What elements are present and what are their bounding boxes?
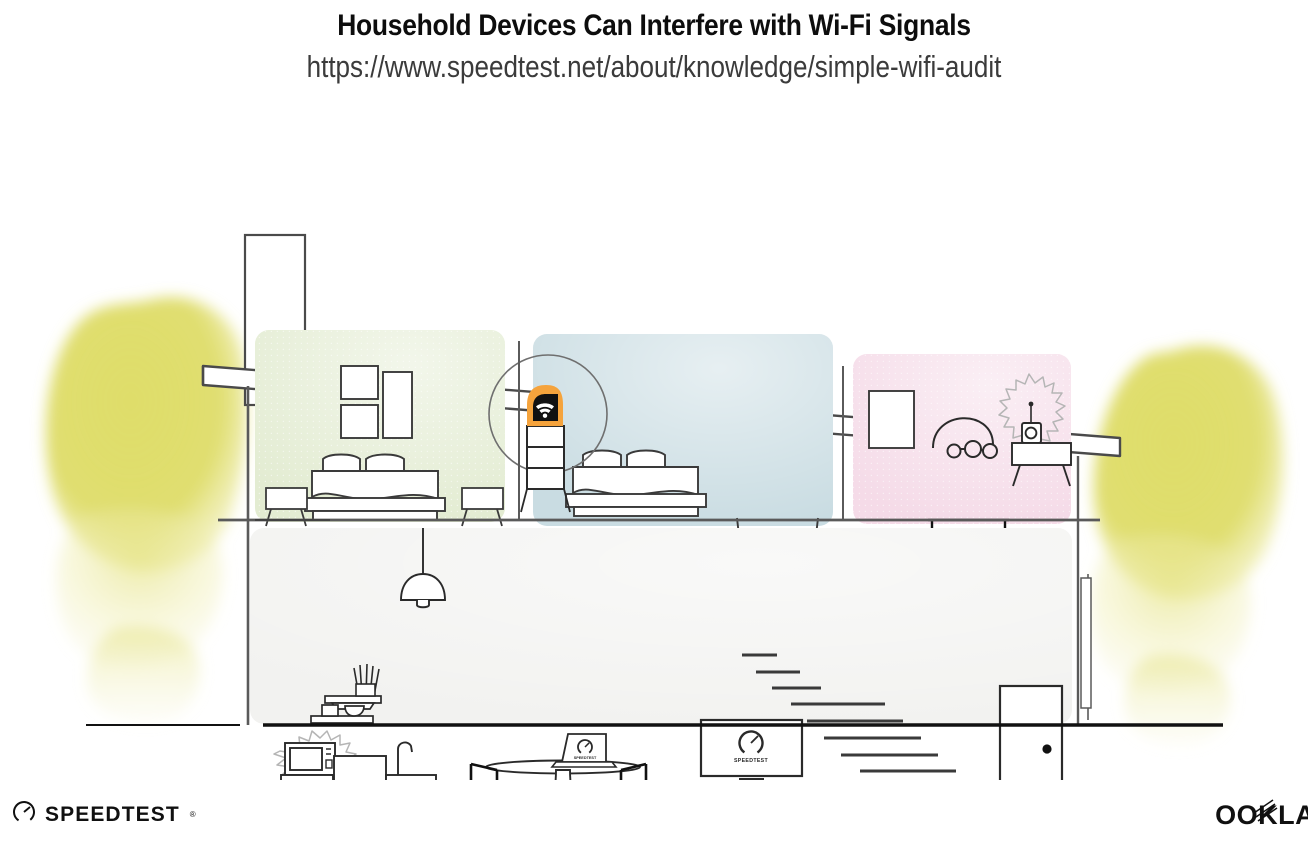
page-root: Household Devices Can Interfere with Wi-… bbox=[0, 0, 1308, 861]
speedtest-logo: SPEEDTEST ® bbox=[12, 800, 196, 829]
front-door[interactable] bbox=[1000, 686, 1062, 780]
footer: SPEEDTEST ® OOKLA ® bbox=[0, 780, 1308, 861]
wall-art-frame-nursery bbox=[869, 391, 914, 448]
header: Household Devices Can Interfere with Wi-… bbox=[0, 0, 1308, 108]
wifi-router[interactable] bbox=[527, 385, 563, 426]
sink-faucet bbox=[398, 742, 412, 775]
tv-brand-text: SPEEDTEST bbox=[734, 758, 768, 764]
speedtest-gauge-icon bbox=[12, 800, 36, 829]
ookla-logo: OOKLA ® bbox=[1215, 802, 1308, 829]
page-title: Household Devices Can Interfere with Wi-… bbox=[78, 0, 1229, 43]
laptop-speedtest: SPEEDTEST bbox=[552, 734, 616, 767]
foliage-left bbox=[46, 297, 248, 723]
ookla-mark-icon bbox=[1251, 797, 1281, 827]
speedtest-wordmark: SPEEDTEST bbox=[45, 803, 180, 827]
speedtest-trademark: ® bbox=[190, 810, 196, 819]
television-speedtest: SPEEDTEST bbox=[701, 720, 802, 780]
door-knob-icon bbox=[1042, 744, 1051, 753]
microwave bbox=[285, 743, 335, 775]
foliage-right bbox=[1091, 346, 1284, 746]
house-illustration: SPEEDTEST bbox=[0, 108, 1308, 780]
page-url: https://www.speedtest.net/about/knowledg… bbox=[105, 43, 1204, 85]
laptop-brand-text: SPEEDTEST bbox=[574, 756, 597, 760]
